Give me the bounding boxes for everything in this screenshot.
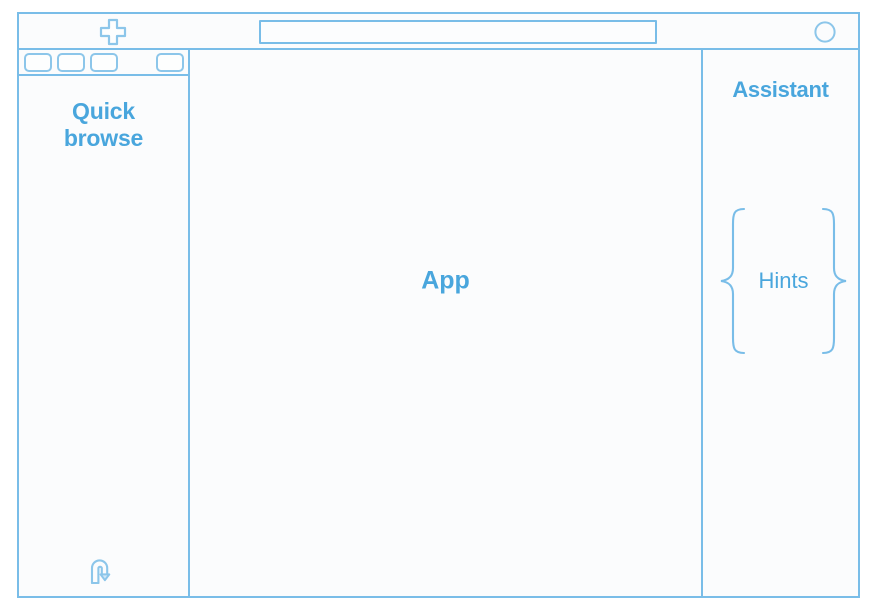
app-label: App <box>190 267 701 296</box>
sidebar-item-tab-1[interactable] <box>24 53 52 72</box>
sidebar-tab-strip <box>19 50 188 76</box>
sidebar-item-tab-2[interactable] <box>57 53 85 72</box>
hints-group: Hints <box>715 206 852 356</box>
sidebar-title-line-1: Quick <box>19 98 188 125</box>
circle-avatar-icon[interactable] <box>814 21 836 43</box>
sidebar-quick-browse: Quick browse <box>19 50 190 596</box>
u-turn-arrow-icon[interactable] <box>87 556 121 586</box>
assistant-title: Assistant <box>703 77 858 103</box>
search-input[interactable] <box>259 20 657 44</box>
window-body: Quick browse App Assistant <box>19 50 858 596</box>
sidebar-item-tab-3[interactable] <box>90 53 118 72</box>
plus-icon[interactable] <box>98 18 128 46</box>
assistant-panel: Assistant Hints <box>703 50 858 596</box>
sidebar-tab-close-button[interactable] <box>156 53 184 72</box>
top-bar <box>19 14 858 50</box>
close-brace-icon <box>818 206 852 356</box>
app-content-panel[interactable]: App <box>190 50 703 596</box>
sidebar-title: Quick browse <box>19 98 188 151</box>
wireframe-window: Quick browse App Assistant <box>17 12 860 598</box>
sidebar-title-line-2: browse <box>19 125 188 152</box>
